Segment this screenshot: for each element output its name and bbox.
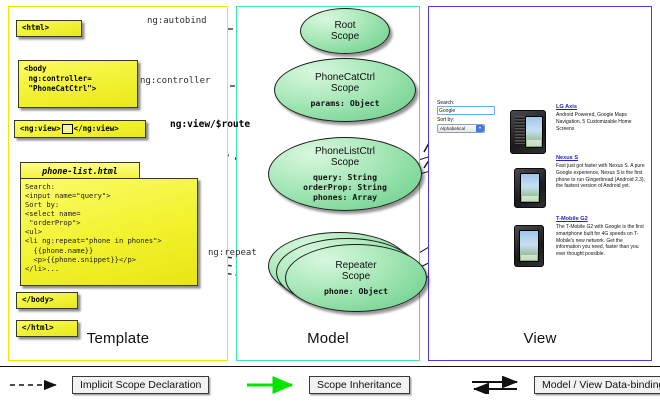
column-label-template: Template <box>8 330 228 347</box>
phone-thumbnail-nexus-s <box>514 168 546 208</box>
edge-label-ng-autobind: ng:autobind <box>147 16 207 26</box>
sort-by-value: Alphabetical <box>440 126 465 131</box>
note-code: Search: <input name="query"> Sort by: <s… <box>20 178 198 286</box>
chevron-updown-icon: ▾ <box>476 125 484 132</box>
scope-phonecatctrl: PhoneCatCtrl Scope params: Object <box>274 58 416 122</box>
code-body-open-text: <body ng:controller= "PhoneCatCtrl"> <box>24 64 96 93</box>
scope-phonelistctrl-title-1: PhoneListCtrl <box>315 146 375 157</box>
phone-thumbnail-lg-axis <box>510 110 546 154</box>
search-input[interactable]: Google <box>437 106 495 115</box>
phone-thumbnail-t-mobile-g2 <box>514 225 544 267</box>
dashed-arrow-icon <box>8 376 66 394</box>
legend-item-implicit-scope-declaration: Implicit Scope Declaration <box>8 376 209 394</box>
scope-phonelistctrl-title-2: Scope <box>331 157 359 168</box>
code-ng-view: <ng:view> </ng:view> <box>14 120 146 138</box>
legend-label: Scope Inheritance <box>309 376 410 394</box>
legend: Implicit Scope Declaration Scope Inherit… <box>0 366 660 406</box>
sort-by-select[interactable]: Alphabetical ▾ <box>437 124 485 133</box>
edge-label-ng-repeat: ng:repeat <box>208 248 257 258</box>
phone-listing-item: T-Mobile G2 The T-Mobile G2 with Google … <box>556 216 648 258</box>
double-arrow-icon <box>470 376 528 394</box>
scope-phonelistctrl: PhoneListCtrl Scope query: String orderP… <box>268 137 422 211</box>
phone-screen <box>520 173 541 204</box>
phone-name-link[interactable]: LG Axis <box>556 104 648 110</box>
legend-label: Implicit Scope Declaration <box>72 376 209 394</box>
phone-screen <box>525 116 543 148</box>
code-ng-view-close-text: </ng:view> <box>74 124 119 134</box>
phone-shell <box>510 110 546 154</box>
edge-label-ng-controller: ng:controller <box>140 76 210 86</box>
legend-item-scope-inheritance: Scope Inheritance <box>245 376 410 394</box>
phone-snippet: Fast just got faster with Nexus S. A pur… <box>556 163 648 190</box>
scope-root-title-1: Root <box>334 20 355 31</box>
column-label-model: Model <box>236 330 420 347</box>
note-phone-list-html: phone-list.html Search: <input name="que… <box>20 162 198 286</box>
legend-item-model-view-data-binding: Model / View Data-binding <box>470 376 660 394</box>
phone-snippet: The T-Mobile G2 with Google is the first… <box>556 224 648 258</box>
phone-name-link[interactable]: Nexus S <box>556 155 648 161</box>
green-arrow-icon <box>245 376 303 394</box>
code-body-open: <body ng:controller= "PhoneCatCtrl"> <box>18 60 138 108</box>
phone-shell <box>514 225 544 267</box>
scope-phonecatctrl-props: params: Object <box>310 98 379 108</box>
scope-repeater-title-2: Scope <box>342 271 370 282</box>
column-label-view: View <box>428 330 652 347</box>
diagram-canvas: <html> <body ng:controller= "PhoneCatCtr… <box>0 0 660 405</box>
ng-view-placeholder-icon <box>62 124 73 134</box>
scope-phonecatctrl-title-2: Scope <box>331 83 359 94</box>
code-html-open-text: <html> <box>22 23 49 33</box>
sort-by-label: Sort by: <box>437 117 497 123</box>
legend-label: Model / View Data-binding <box>534 376 660 394</box>
phone-screen <box>519 230 538 262</box>
code-body-close-text: </body> <box>22 295 54 305</box>
scope-repeater-title-1: Repeater <box>335 260 376 271</box>
code-ng-view-open-text: <ng:view> <box>20 124 61 134</box>
phone-listing-item: LG Axis Android Powered, Google Maps Nav… <box>556 104 648 132</box>
edge-label-ng-view-route: ng:view/$route <box>170 119 250 130</box>
code-body-close: </body> <box>16 292 78 309</box>
scope-phonelistctrl-props: query: String orderProp: String phones: … <box>303 172 387 202</box>
view-search-form: Search: Google Sort by: Alphabetical ▾ <box>437 100 497 133</box>
scope-root-title-2: Scope <box>331 31 359 42</box>
phone-name-link[interactable]: T-Mobile G2 <box>556 216 648 222</box>
code-html-open: <html> <box>16 20 82 37</box>
scope-phonecatctrl-title-1: PhoneCatCtrl <box>315 72 375 83</box>
scope-root: Root Scope <box>300 8 390 54</box>
phone-listing-item: Nexus S Fast just got faster with Nexus … <box>556 155 648 190</box>
phone-snippet: Android Powered, Google Maps Navigation,… <box>556 112 648 132</box>
scope-repeater: Repeater Scope phone: Object <box>285 244 427 312</box>
phone-shell <box>514 168 546 208</box>
scope-repeater-props: phone: Object <box>324 286 388 296</box>
note-tab: phone-list.html <box>20 162 140 179</box>
note-filename: phone-list.html <box>42 166 118 176</box>
